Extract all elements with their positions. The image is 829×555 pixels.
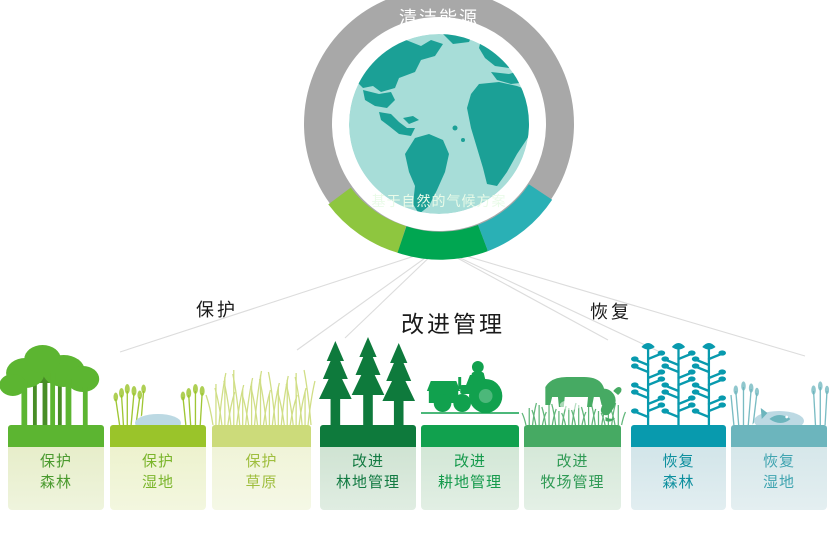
panel-label: 保护 森林 — [8, 451, 104, 493]
panel-soil-band — [524, 425, 621, 447]
hero-bottom-label: 基于自然的气候方案 — [303, 191, 575, 211]
panel-soil-band — [731, 425, 827, 447]
fish-pond-icon — [731, 333, 827, 425]
panel-label: 改进 耕地管理 — [421, 451, 519, 493]
broadleaf-trees-icon — [8, 333, 104, 425]
panel-manage-cropland[interactable]: 改进 耕地管理 — [421, 425, 519, 510]
tractor-icon — [421, 333, 519, 425]
infographic-canvas: 清洁能源 基于自然的气候方案 保护 改进管理 恢复 — [0, 0, 829, 555]
panel-protect-forest[interactable]: 保护 森林 — [8, 425, 104, 510]
panel-restore-wetland[interactable]: 恢复 湿地 — [731, 425, 827, 510]
panel-soil-band — [631, 425, 726, 447]
grass-blades-icon — [212, 333, 311, 425]
hero-globe: 清洁能源 基于自然的气候方案 — [303, 0, 575, 260]
arc-segment-2 — [402, 238, 483, 246]
category-label-protect: 保护 — [196, 296, 238, 322]
panel-manage-forestland[interactable]: 改进 林地管理 — [320, 425, 416, 510]
panel-soil-band — [421, 425, 519, 447]
panel-soil-band — [8, 425, 104, 447]
solution-panels: 保护 森林 保护 湿地保 — [0, 330, 829, 530]
grazing-cow-icon — [524, 333, 621, 425]
panel-soil-band — [212, 425, 311, 447]
panel-protect-wetland[interactable]: 保护 湿地 — [110, 425, 206, 510]
panel-restore-forest[interactable]: 恢复 森林 — [631, 425, 726, 510]
wetland-pond-icon — [110, 333, 206, 425]
panel-soil-band — [320, 425, 416, 447]
panel-label: 改进 牧场管理 — [524, 451, 621, 493]
panel-label: 恢复 湿地 — [731, 451, 827, 493]
panel-label: 改进 林地管理 — [320, 451, 416, 493]
panel-manage-grazing[interactable]: 改进 牧场管理 — [524, 425, 621, 510]
saplings-icon — [631, 333, 726, 425]
panel-label: 保护 草原 — [212, 451, 311, 493]
panel-protect-grassland[interactable]: 保护 草原 — [212, 425, 311, 510]
hero-top-label: 清洁能源 — [303, 4, 575, 30]
panel-label: 恢复 森林 — [631, 451, 726, 493]
globe-graphic — [303, 0, 575, 260]
panel-soil-band — [110, 425, 206, 447]
panel-label: 保护 湿地 — [110, 451, 206, 493]
category-label-restore: 恢复 — [590, 298, 632, 324]
conifer-trees-icon — [320, 333, 416, 425]
